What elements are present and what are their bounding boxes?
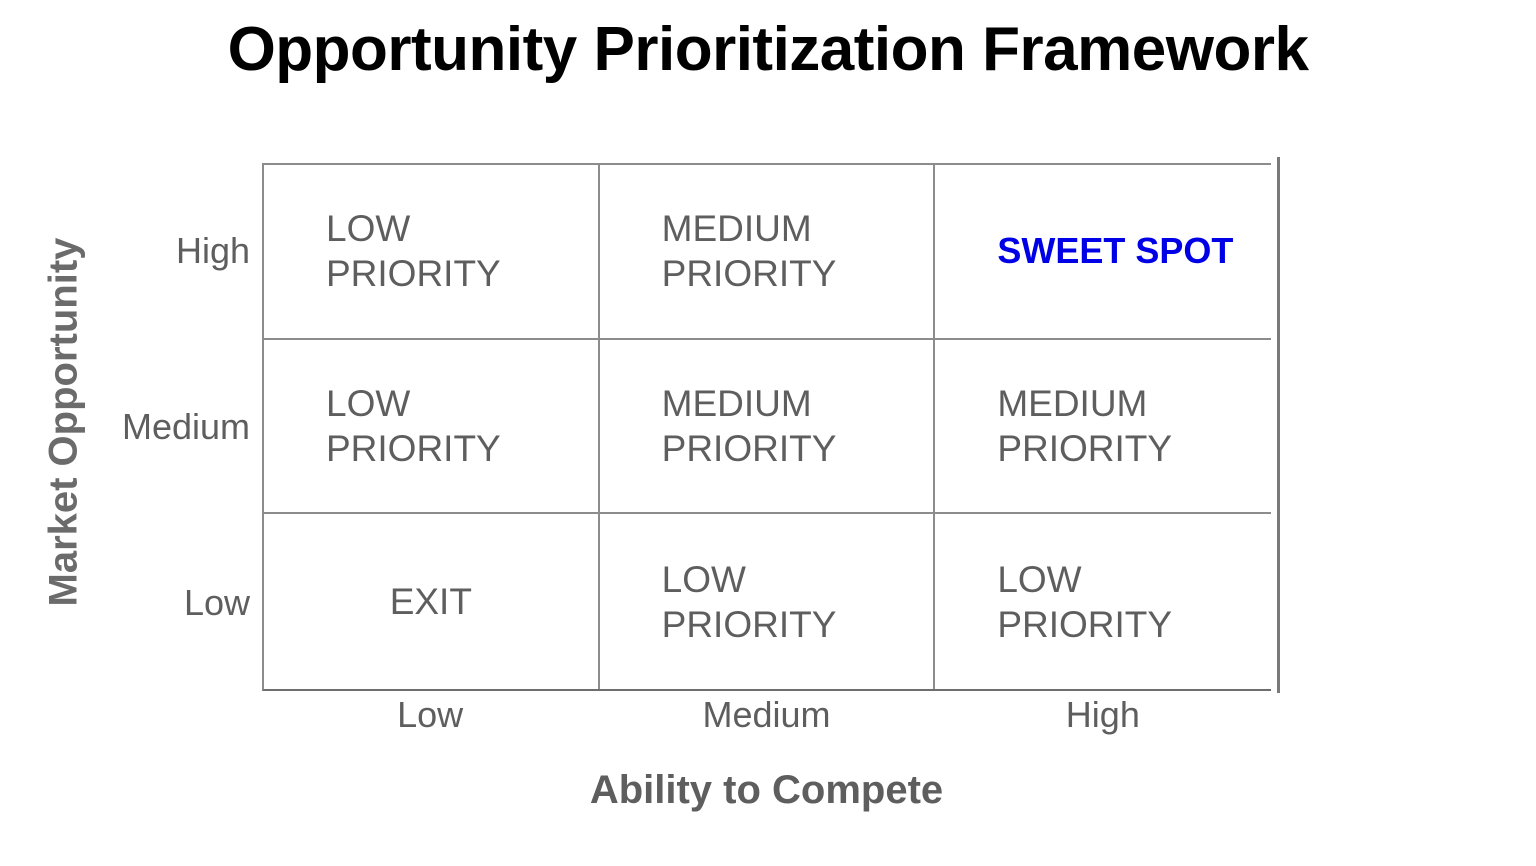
matrix-cell-low-medium[interactable]: LOW PRIORITY	[600, 514, 936, 689]
y-axis-tick-low: Low	[70, 515, 250, 691]
right-axis-line	[1277, 157, 1280, 693]
cell-text-line: SWEET SPOT	[997, 229, 1233, 273]
y-axis-tick-group: High Medium Low	[70, 163, 250, 691]
cell-text-line: LOW	[997, 557, 1081, 602]
y-axis-tick-medium: Medium	[70, 339, 250, 515]
matrix-cell-medium-medium[interactable]: MEDIUM PRIORITY	[600, 340, 936, 515]
y-axis-tick-label: Medium	[122, 406, 250, 448]
cell-text-line: MEDIUM	[997, 381, 1147, 426]
cell-text-line: PRIORITY	[662, 602, 837, 647]
cell-text-line: PRIORITY	[997, 602, 1172, 647]
matrix-cell-medium-low[interactable]: LOW PRIORITY	[264, 340, 600, 515]
matrix-cell-low-high[interactable]: LOW PRIORITY	[935, 514, 1271, 689]
cell-text-line: PRIORITY	[662, 251, 837, 296]
x-axis-tick-group: Low Medium High	[262, 694, 1271, 746]
cell-text-line: LOW	[662, 557, 746, 602]
cell-text-line: PRIORITY	[662, 426, 837, 471]
cell-text-line: LOW	[326, 381, 410, 426]
cell-text-line: PRIORITY	[326, 426, 501, 471]
cell-text-line: PRIORITY	[326, 251, 501, 296]
matrix-cell-low-low-exit[interactable]: EXIT	[264, 514, 600, 689]
x-axis-tick-medium: Medium	[598, 694, 934, 746]
cell-text-line: MEDIUM	[662, 206, 812, 251]
priority-matrix: LOW PRIORITY MEDIUM PRIORITY SWEET SPOT …	[262, 163, 1271, 691]
y-axis-tick-high: High	[70, 163, 250, 339]
y-axis-tick-label: High	[176, 230, 250, 272]
matrix-cell-high-medium[interactable]: MEDIUM PRIORITY	[600, 165, 936, 340]
x-axis-title: Ability to Compete	[262, 768, 1271, 813]
cell-text-line: EXIT	[390, 579, 472, 624]
x-axis-tick-high: High	[935, 694, 1271, 746]
cell-text-line: LOW	[326, 206, 410, 251]
page-title: Opportunity Prioritization Framework	[0, 16, 1536, 84]
matrix-cell-medium-high[interactable]: MEDIUM PRIORITY	[935, 340, 1271, 515]
x-axis-tick-low: Low	[262, 694, 598, 746]
matrix-cell-high-low[interactable]: LOW PRIORITY	[264, 165, 600, 340]
y-axis-tick-label: Low	[184, 582, 250, 624]
matrix-cell-high-high-sweet-spot[interactable]: SWEET SPOT	[935, 165, 1271, 340]
cell-text-line: MEDIUM	[662, 381, 812, 426]
cell-text-line: PRIORITY	[997, 426, 1172, 471]
